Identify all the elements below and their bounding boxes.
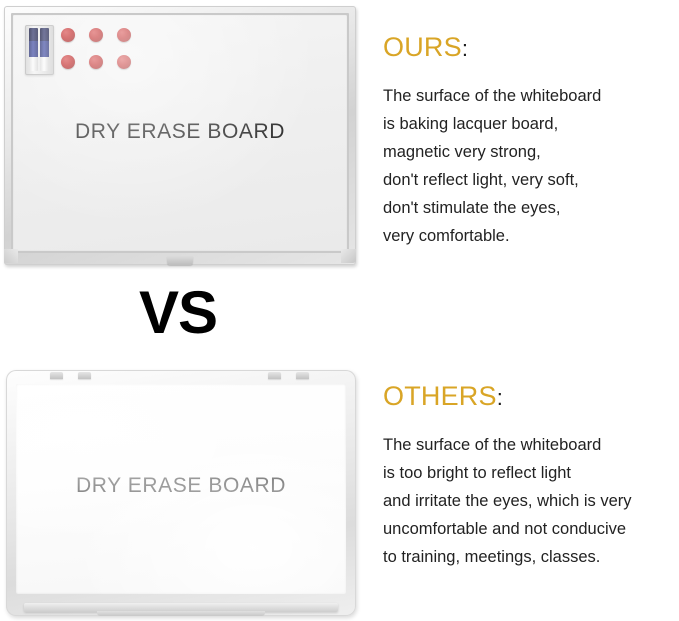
marker-tail [29, 57, 38, 71]
marker-body [29, 41, 38, 57]
ours-frame-corner-bottom-left [4, 249, 18, 263]
others-description: The surface of the whiteboard is too bri… [383, 431, 675, 571]
ours-frame-corner-bottom-right [341, 249, 356, 263]
mount-tab [78, 372, 91, 379]
marker-cap [40, 28, 49, 41]
others-whiteboard-surface: DRY ERASE BOARD [16, 384, 346, 594]
others-whiteboard: DRY ERASE BOARD [6, 370, 356, 616]
ours-board-label: DRY ERASE BOARD [13, 120, 347, 144]
ours-marker-tray-tab [167, 256, 193, 265]
red-magnet-icon [61, 28, 75, 42]
others-description-line: to training, meetings, classes. [383, 543, 675, 571]
ours-description-line: very comfortable. [383, 222, 675, 250]
others-description-line: uncomfortable and not conducive [383, 515, 675, 543]
ours-description: The surface of the whiteboard is baking … [383, 82, 675, 250]
others-heading-colon: : [497, 385, 503, 410]
red-magnet-icon [61, 55, 75, 69]
others-marker-tray-lip [97, 611, 265, 616]
mount-tab [268, 372, 281, 379]
others-description-line: is too bright to reflect light [383, 459, 675, 487]
mount-tab [50, 372, 63, 379]
ours-whiteboard: DRY ERASE BOARD [4, 6, 356, 265]
others-description-line: The surface of the whiteboard [383, 431, 675, 459]
marker-cap [29, 28, 38, 41]
ours-description-line: is baking lacquer board, [383, 110, 675, 138]
red-magnet-icon [117, 28, 131, 42]
ours-heading: OURS: [383, 32, 675, 63]
ours-heading-text: OURS [383, 32, 462, 62]
marker-body [40, 41, 49, 57]
ours-accessory-cluster [25, 23, 133, 79]
ours-text-column: OURS: The surface of the whiteboard is b… [383, 32, 675, 250]
red-magnet-icon [89, 28, 103, 42]
others-description-line: and irritate the eyes, which is very [383, 487, 675, 515]
mount-tab [296, 372, 309, 379]
ours-description-line: The surface of the whiteboard [383, 82, 675, 110]
others-text-column: OTHERS: The surface of the whiteboard is… [383, 381, 675, 571]
red-magnet-icon [117, 55, 131, 69]
blue-marker-icon [29, 28, 38, 71]
magnet-grid [61, 28, 133, 72]
red-magnet-icon [89, 55, 103, 69]
ours-description-line: don't stimulate the eyes, [383, 194, 675, 222]
marker-tail [40, 57, 49, 71]
others-heading: OTHERS: [383, 381, 675, 412]
ours-whiteboard-surface: DRY ERASE BOARD [13, 15, 347, 251]
ours-heading-colon: : [462, 36, 468, 61]
others-heading-text: OTHERS [383, 381, 497, 411]
others-board-label: DRY ERASE BOARD [16, 474, 346, 498]
marker-holder [25, 25, 54, 75]
ours-description-line: don't reflect light, very soft, [383, 166, 675, 194]
blue-marker-icon [40, 28, 49, 71]
vs-separator-label: VS [0, 278, 356, 347]
ours-description-line: magnetic very strong, [383, 138, 675, 166]
